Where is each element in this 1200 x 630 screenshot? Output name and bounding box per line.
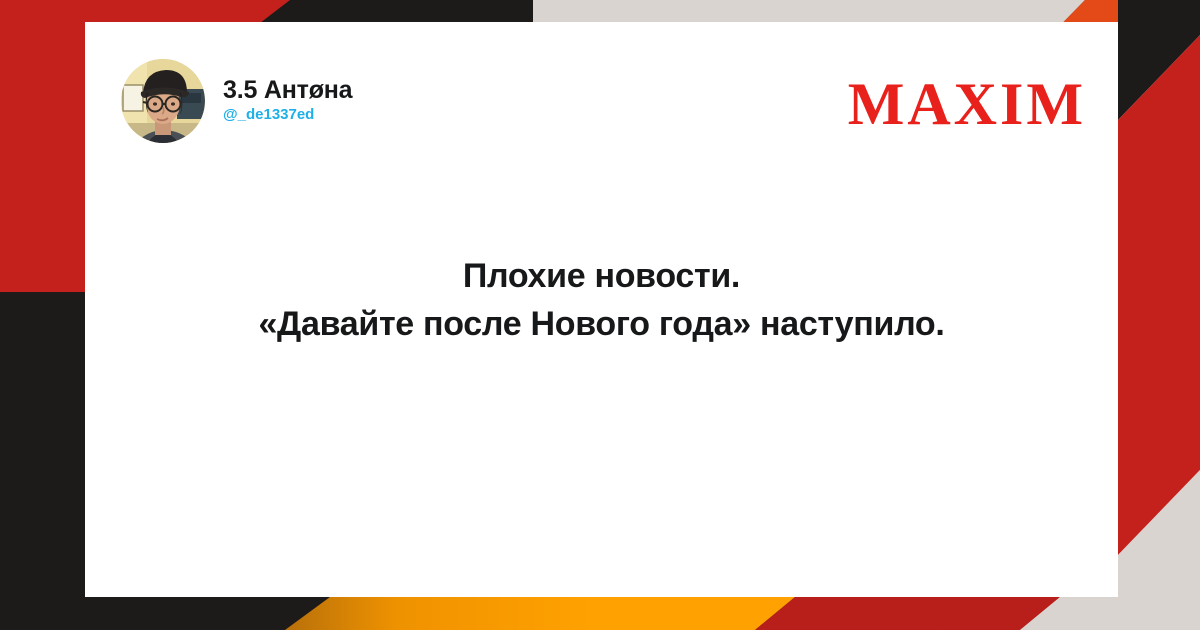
avatar[interactable] [121, 59, 205, 143]
left-red-column [0, 0, 85, 292]
profile-handle[interactable]: @_de1337ed [223, 107, 352, 124]
tweet-line-1: Плохие новости. [125, 252, 1078, 300]
avatar-photo [121, 59, 205, 143]
maxim-logo: MAXIM [848, 74, 1086, 134]
tweet-text: Плохие новости. «Давайте после Нового го… [85, 252, 1118, 349]
display-name: 3.5 Антøна [223, 77, 352, 105]
right-red-band [1118, 35, 1200, 555]
poster-canvas: 3.5 Антøна @_de1337ed MAXIM Плохие новос… [0, 0, 1200, 630]
profile-block[interactable]: 3.5 Антøна @_de1337ed [121, 59, 352, 143]
tweet-card: 3.5 Антøна @_de1337ed MAXIM Плохие новос… [85, 22, 1118, 597]
tweet-line-2: «Давайте после Нового года» наступило. [125, 300, 1078, 348]
bottom-orange-band [285, 597, 795, 630]
profile-text: 3.5 Антøна @_de1337ed [223, 77, 352, 125]
card-header: 3.5 Антøна @_de1337ed MAXIM [85, 22, 1118, 162]
left-black-column [0, 292, 85, 630]
